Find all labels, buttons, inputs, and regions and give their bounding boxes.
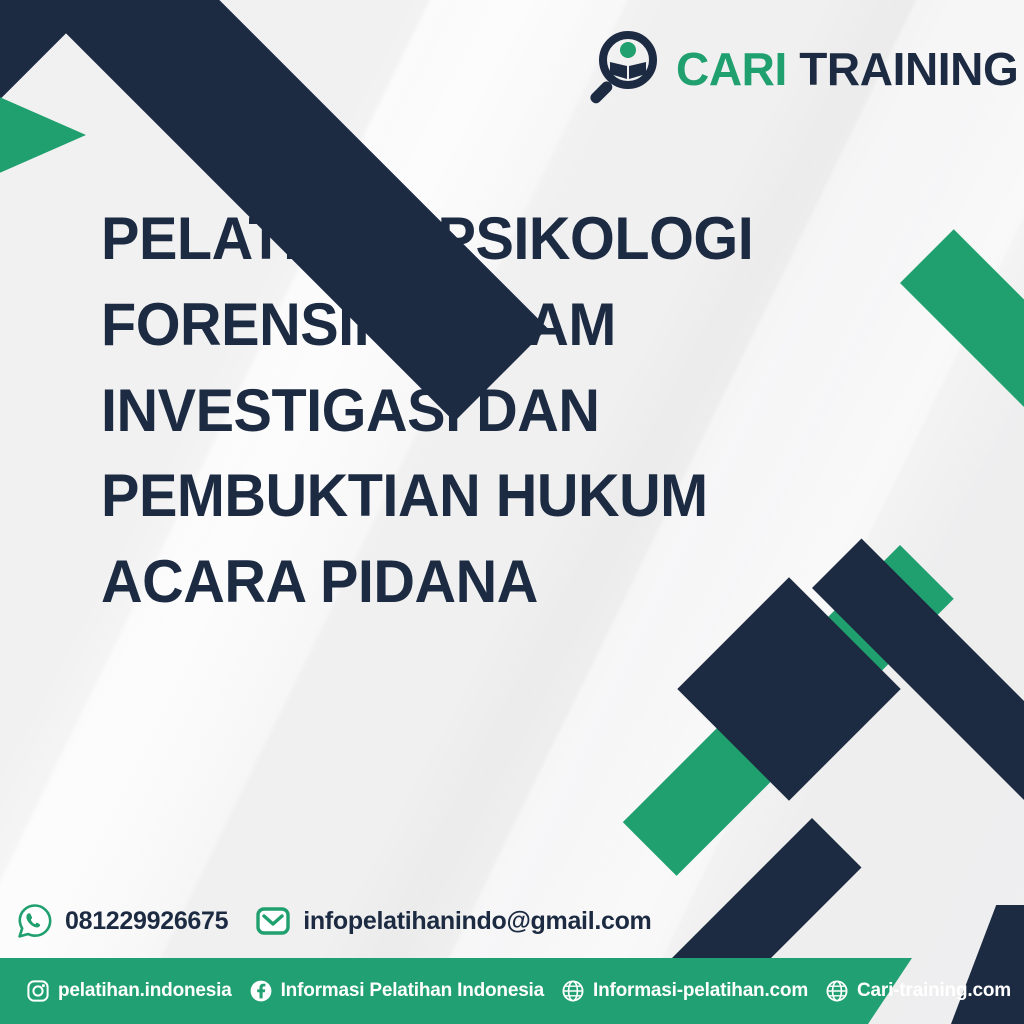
- brand-name-part1: CARI: [676, 43, 787, 95]
- footer-label-website-1: Informasi-pelatihan.com: [593, 980, 808, 1002]
- contact-email[interactable]: infopelatihanindo@gmail.com: [254, 902, 651, 940]
- contact-row: 081229926675 infopelatihanindo@gmail.com: [16, 902, 652, 940]
- footer-item-website-2[interactable]: Cari-training.com: [825, 979, 1011, 1003]
- title-line-3: INVESTIGASI DAN: [101, 368, 850, 454]
- footer-item-facebook[interactable]: Informasi Pelatihan Indonesia: [249, 979, 544, 1003]
- footer-item-website-1[interactable]: Informasi-pelatihan.com: [561, 979, 808, 1003]
- instagram-icon: [26, 979, 50, 1003]
- facebook-icon: [249, 979, 273, 1003]
- whatsapp-number: 081229926675: [65, 907, 228, 936]
- envelope-icon: [254, 902, 292, 940]
- email-address: infopelatihanindo@gmail.com: [303, 907, 651, 936]
- right-green-chevron-upper: [900, 229, 1024, 546]
- whatsapp-icon: [16, 902, 54, 940]
- title-line-5: ACARA PIDANA: [101, 539, 850, 625]
- magnifier-book-person-icon: [586, 31, 660, 107]
- footer-links-row: pelatihan.indonesia Informasi Pelatihan …: [26, 958, 1011, 1024]
- brand-logo-text: CARI TRAINING: [676, 46, 1018, 92]
- title-line-2: FORENSIK DALAM: [101, 282, 850, 368]
- footer-label-website-2: Cari-training.com: [857, 980, 1011, 1002]
- title-line-4: PEMBUKTIAN HUKUM: [101, 453, 850, 539]
- footer-item-instagram[interactable]: pelatihan.indonesia: [26, 979, 232, 1003]
- poster-canvas: CARI TRAINING PELATIHAN PSIKOLOGI FORENS…: [0, 0, 1024, 1024]
- globe-icon: [561, 979, 585, 1003]
- poster-title: PELATIHAN PSIKOLOGI FORENSIK DALAM INVES…: [101, 196, 850, 625]
- globe-icon: [825, 979, 849, 1003]
- footer-label-instagram: pelatihan.indonesia: [58, 980, 232, 1002]
- footer-bar: pelatihan.indonesia Informasi Pelatihan …: [0, 958, 1024, 1024]
- brand-name-part2: TRAINING: [799, 43, 1018, 95]
- footer-label-facebook: Informasi Pelatihan Indonesia: [281, 980, 544, 1002]
- contact-whatsapp[interactable]: 081229926675: [16, 902, 228, 940]
- title-line-1: PELATIHAN PSIKOLOGI: [101, 196, 850, 282]
- brand-logo: CARI TRAINING: [586, 31, 1018, 107]
